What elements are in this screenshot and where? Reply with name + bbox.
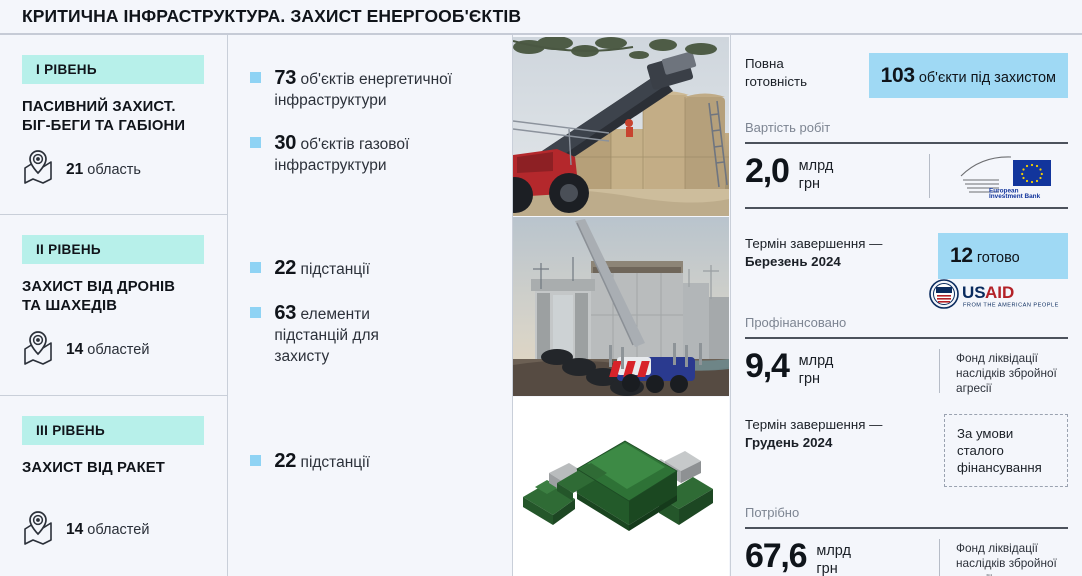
deadline-label-3-line1: Термін завершення — [745, 417, 882, 432]
bullet-item: 22 підстанції [250, 255, 493, 281]
donor-logo-slot-1: European Investment Bank [946, 154, 1068, 203]
needed-unit-3-line1: млрд [816, 543, 851, 559]
stats-bottom-divider-1 [745, 207, 1068, 209]
region-row-1: 21 область [22, 150, 141, 189]
readiness-label-1-line2: готовність [745, 74, 807, 89]
condition-badge-3: За умови сталого фінансування [944, 414, 1068, 487]
bullet-item: 30 об'єктів газової інфраструктури [250, 130, 493, 177]
bullet-value: 63 [274, 302, 296, 324]
stats-card-1: Повна готовність 103 об'єкти під захисто… [731, 35, 1082, 215]
bullet-text: підстанції [301, 261, 370, 278]
map-pin-icon [22, 331, 54, 370]
bullets-group-3: 22 підстанції [228, 396, 511, 576]
badge-text-2: готово [977, 250, 1020, 266]
status-badge-1: 103 об'єкти під захистом [869, 53, 1068, 98]
photo-substation-construction [513, 217, 729, 396]
map-pin-icon [22, 150, 54, 189]
photo-gabion-installation [513, 37, 729, 216]
bullet-item: 73 об'єктів енергетичної інфраструктури [250, 65, 493, 112]
needed-label-3: Потрібно [745, 505, 1068, 520]
bullet-value: 22 [274, 450, 296, 472]
deadline-label-2-line1: Термін завершення — [745, 236, 882, 251]
condition-badge-3-line1: За умови [957, 426, 1013, 441]
svg-text:Investment Bank: Investment Bank [989, 193, 1041, 198]
cost-unit-1: млрд грн [799, 157, 834, 193]
stats-top-2: Термін завершення — Березень 2024 12 гот… [745, 233, 1068, 278]
bullet-text: об'єктів енергетичної інфраструктури [274, 71, 452, 109]
level-title-2: ЗАХИСТ ВІД ДРОНІВ ТА ШАХЕДІВ [22, 278, 205, 316]
readiness-label-1-line1: Повна [745, 56, 784, 71]
content-grid: I РІВЕНЬ ПАСИВНИЙ ЗАХИСТ. БІГ-БЕГИ ТА ГА… [0, 35, 1082, 576]
badge-text-1: об'єкти під захистом [919, 70, 1056, 86]
photos-column [513, 35, 730, 576]
funded-unit-2: млрд грн [799, 352, 834, 388]
level-title-1-line1: ПАСИВНИЙ ЗАХИСТ. [22, 99, 176, 115]
level-chip-1: I РІВЕНЬ [22, 55, 204, 84]
level-title-1: ПАСИВНИЙ ЗАХИСТ. БІГ-БЕГИ ТА ГАБІОНИ [22, 98, 205, 136]
funded-unit-2-line2: грн [799, 371, 820, 387]
bullet-square-icon [250, 455, 261, 466]
region-count-3: 14 [66, 521, 83, 538]
level-title-3-line1: ЗАХИСТ ВІД РАКЕТ [22, 460, 165, 476]
funded-amount-2: 9,4 [745, 349, 789, 383]
level-title-2-line2: ТА ШАХЕДІВ [22, 298, 117, 314]
bullet-value: 22 [274, 257, 296, 279]
deadline-value-3: Грудень 2024 [745, 435, 832, 450]
bullet-square-icon [250, 307, 261, 318]
svg-text:AID: AID [985, 283, 1014, 302]
level-card-2: II РІВЕНЬ ЗАХИСТ ВІД ДРОНІВ ТА ШАХЕДІВ [0, 215, 227, 395]
region-text-2: 14 областей [66, 341, 149, 359]
bullet-square-icon [250, 262, 261, 273]
region-word-3: областей [87, 522, 149, 538]
region-count-1: 21 [66, 161, 83, 178]
bullets-group-1: 73 об'єктів енергетичної інфраструктури … [228, 35, 511, 215]
map-pin-icon [22, 511, 54, 550]
usaid-logo-slot: US AID FROM THE AMERICAN PEOPLE [928, 279, 1066, 318]
needed-divider-3 [745, 527, 1068, 529]
condition-badge-3-line2: сталого [957, 443, 1004, 458]
needed-row-3: 67,6 млрд грн Фонд ліквідації наслідків … [745, 539, 1068, 576]
levels-column: I РІВЕНЬ ПАСИВНИЙ ЗАХИСТ. БІГ-БЕГИ ТА ГА… [0, 35, 227, 576]
level-card-3: III РІВЕНЬ ЗАХИСТ ВІД РАКЕТ 14 [0, 396, 227, 576]
funded-vertical-divider-2 [939, 349, 940, 393]
status-badge-2: 12 готово [938, 233, 1068, 278]
level-card-1: I РІВЕНЬ ПАСИВНИЙ ЗАХИСТ. БІГ-БЕГИ ТА ГА… [0, 35, 227, 215]
stats-column: Повна готовність 103 об'єкти під захисто… [731, 35, 1082, 576]
region-word-2: областей [87, 342, 149, 358]
needed-amount-3: 67,6 [745, 539, 806, 573]
region-row-3: 14 областей [22, 511, 149, 550]
badge-value-2: 12 [950, 244, 973, 267]
bullet-text: підстанції [301, 454, 370, 471]
cost-vertical-divider-1 [929, 154, 930, 198]
svg-text:FROM THE AMERICAN PEOPLE: FROM THE AMERICAN PEOPLE [963, 303, 1059, 309]
page-header: КРИТИЧНА ІНФРАСТРУКТУРА. ЗАХИСТ ЕНЕРГООБ… [0, 0, 1082, 33]
needed-unit-3-line2: грн [816, 561, 837, 576]
region-count-2: 14 [66, 341, 83, 358]
cost-amount-1: 2,0 [745, 154, 789, 188]
region-row-2: 14 областей [22, 331, 149, 370]
level-title-2-line1: ЗАХИСТ ВІД ДРОНІВ [22, 279, 175, 295]
bullet-item: 63 елементи підстанцій для захисту [250, 300, 493, 367]
cost-unit-1-line1: млрд [799, 158, 834, 174]
photo-protective-dome-render [513, 397, 729, 576]
region-text-3: 14 областей [66, 521, 149, 539]
readiness-label-1: Повна готовність [745, 53, 807, 91]
cost-row-1: 2,0 млрд грн [745, 154, 1068, 203]
page-title: КРИТИЧНА ІНФРАСТРУКТУРА. ЗАХИСТ ЕНЕРГООБ… [22, 6, 521, 27]
stats-top-3: Термін завершення — Грудень 2024 За умов… [745, 414, 1068, 487]
level-chip-3: III РІВЕНЬ [22, 416, 204, 445]
needed-source-3: Фонд ліквідації наслідків збройної агрес… [956, 541, 1068, 576]
usaid-logo: US AID FROM THE AMERICAN PEOPLE [928, 300, 1066, 317]
needed-vertical-divider-3 [939, 539, 940, 576]
cost-divider-1 [745, 142, 1068, 144]
level-title-1-line2: БІГ-БЕГИ ТА ГАБІОНИ [22, 118, 185, 134]
cost-label-1: Вартість робіт [745, 120, 1068, 135]
bullet-square-icon [250, 137, 261, 148]
region-word-1: область [87, 162, 141, 178]
infographic-page: КРИТИЧНА ІНФРАСТРУКТУРА. ЗАХИСТ ЕНЕРГООБ… [0, 0, 1082, 576]
condition-badge-3-line3: фінансування [957, 460, 1042, 475]
european-investment-bank-logo: European Investment Bank [959, 154, 1055, 203]
level-title-3: ЗАХИСТ ВІД РАКЕТ [22, 459, 205, 478]
bullet-square-icon [250, 72, 261, 83]
bullets-group-2: 22 підстанції 63 елементи підстанцій для… [228, 215, 511, 395]
badge-value-1: 103 [881, 64, 915, 87]
bullets-column: 73 об'єктів енергетичної інфраструктури … [228, 35, 511, 576]
cost-unit-1-line2: грн [799, 176, 820, 192]
bullet-value: 73 [274, 67, 296, 89]
funded-divider-2 [745, 337, 1068, 339]
stats-top-1: Повна готовність 103 об'єкти під захисто… [745, 53, 1068, 98]
deadline-label-3: Термін завершення — Грудень 2024 [745, 414, 882, 452]
level-chip-2: II РІВЕНЬ [22, 235, 204, 264]
deadline-label-2: Термін завершення — Березень 2024 [745, 233, 882, 271]
bullet-item: 22 підстанції [250, 448, 493, 474]
funded-source-2: Фонд ліквідації наслідків збройної агрес… [956, 351, 1068, 397]
funded-row-2: 9,4 млрд грн Фонд ліквідації наслідків з… [745, 349, 1068, 397]
deadline-value-2: Березень 2024 [745, 254, 841, 269]
needed-unit-3: млрд грн [816, 542, 851, 576]
bullet-value: 30 [274, 132, 296, 154]
funded-unit-2-line1: млрд [799, 353, 834, 369]
region-text-1: 21 область [66, 161, 141, 179]
stats-card-2: Термін завершення — Березень 2024 12 гот… [731, 215, 1082, 395]
stats-card-3: Термін завершення — Грудень 2024 За умов… [731, 396, 1082, 576]
svg-text:US: US [962, 283, 986, 302]
